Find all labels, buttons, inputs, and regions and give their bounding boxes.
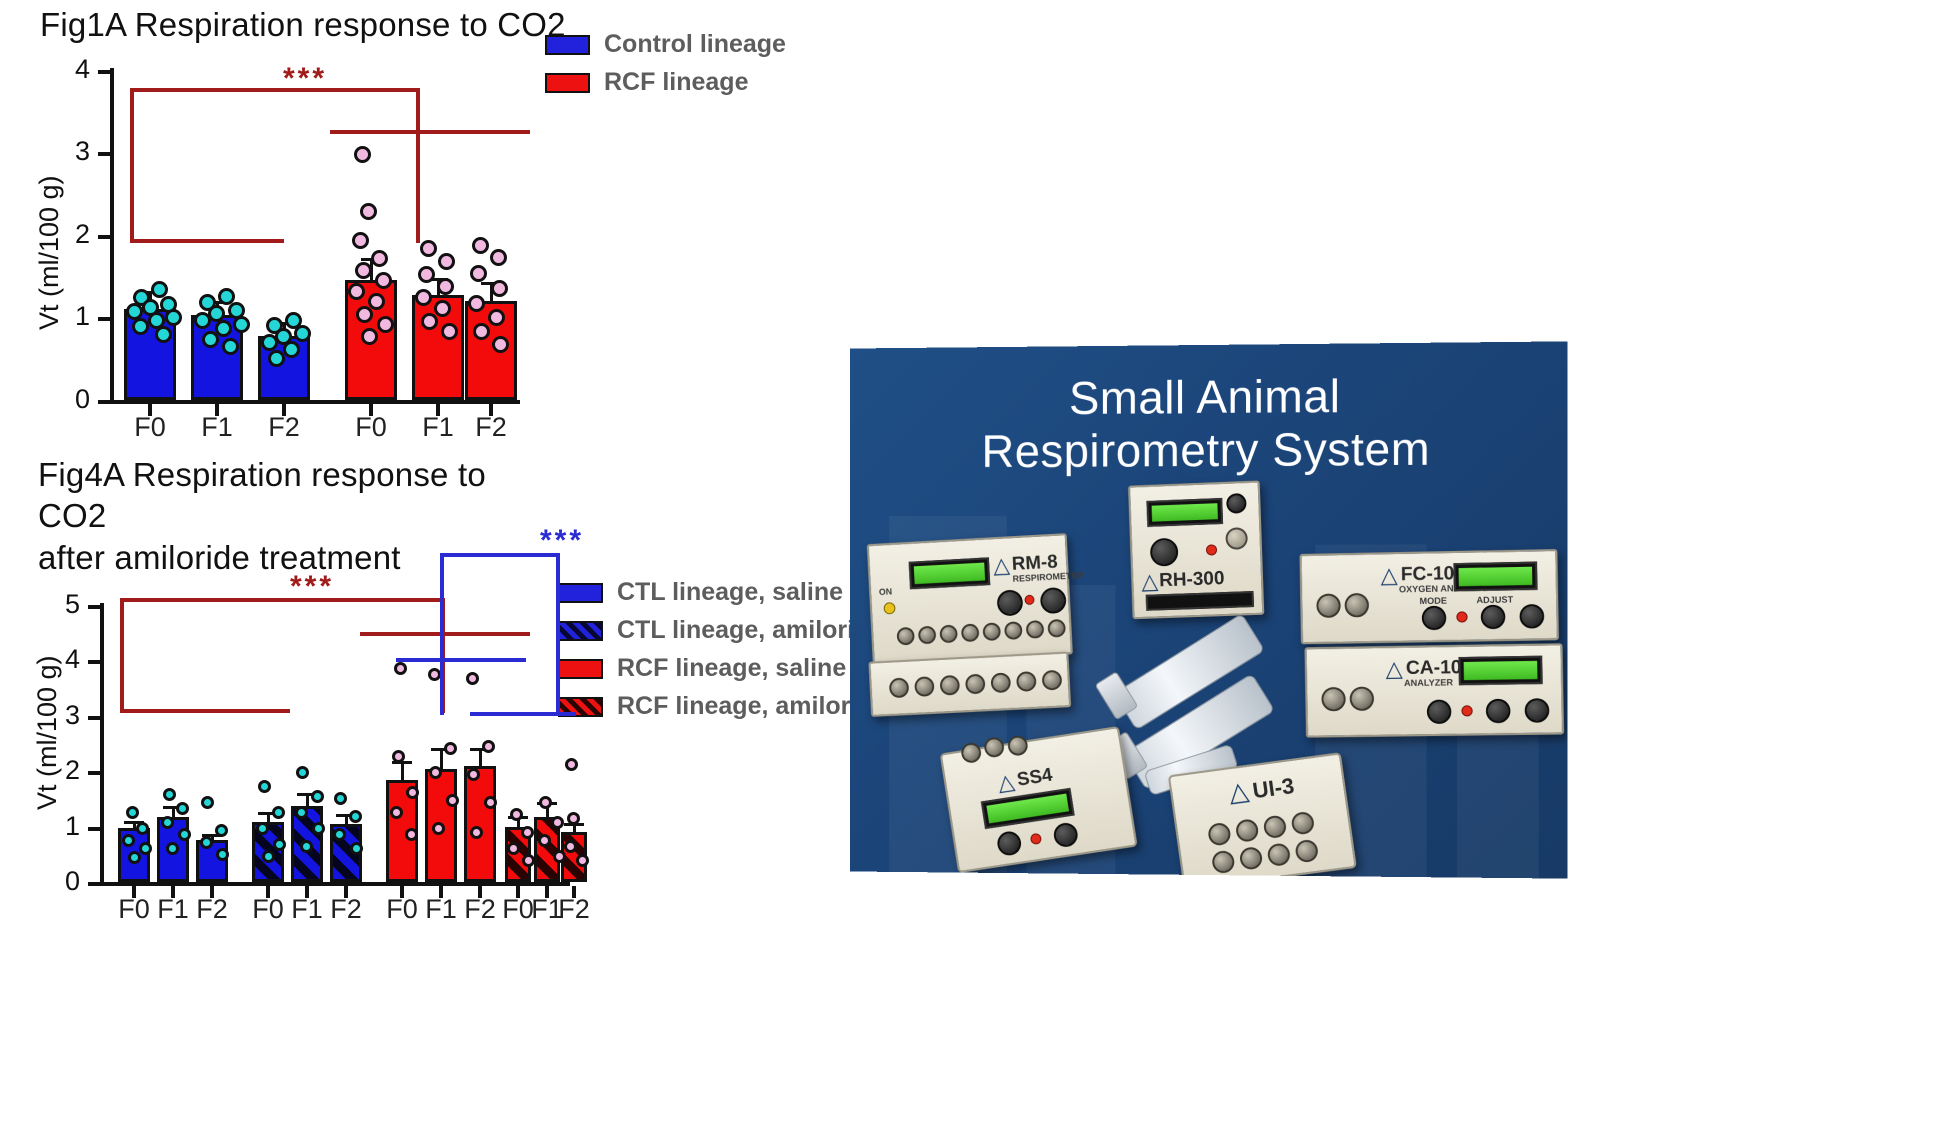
data-point [283, 341, 300, 358]
data-point [482, 740, 495, 753]
connector-port[interactable] [1321, 687, 1346, 711]
data-point [136, 822, 149, 835]
data-point [258, 780, 271, 793]
significance-bracket-foot [470, 712, 576, 716]
y-tick-label: 5 [44, 589, 80, 620]
data-point [470, 265, 487, 282]
data-point [300, 840, 313, 853]
figure-4-plot: Vt (ml/100 g) 0 1 2 3 4 5 [0, 450, 600, 1145]
bnc-port[interactable] [1016, 671, 1037, 692]
device-model-label: SS4 [1016, 765, 1054, 792]
product-title-line1: Small Animal [1069, 370, 1341, 424]
bnc-port[interactable] [1235, 818, 1260, 843]
data-point [538, 834, 551, 847]
data-point [312, 822, 325, 835]
legend-label: CTL lineage, amiloride [617, 616, 883, 645]
bnc-port[interactable] [982, 622, 1001, 641]
bnc-port[interactable] [1026, 620, 1045, 639]
lcd-display [1146, 498, 1223, 527]
brand-logo-icon: △ [996, 771, 1016, 795]
legend-label: RCF lineage [604, 68, 748, 97]
device-ca10[interactable]: △ CA-10 ANALYZER [1304, 643, 1564, 737]
legend-label: Control lineage [604, 30, 786, 59]
device-model-label: CA-10 [1406, 657, 1462, 680]
data-point [421, 313, 438, 330]
device-model-label: UI-3 [1251, 773, 1296, 804]
brand-logo-icon: △ [1141, 570, 1159, 593]
data-point [418, 266, 435, 283]
legend-item[interactable]: CTL lineage, amiloride [558, 616, 887, 645]
data-point [178, 828, 191, 841]
data-point [348, 283, 365, 300]
data-point [488, 309, 505, 326]
bnc-port[interactable] [1207, 822, 1232, 847]
legend-label: CTL lineage, saline [617, 578, 843, 607]
data-point [294, 325, 311, 342]
knob[interactable] [1225, 527, 1248, 550]
x-axis-line [110, 400, 520, 404]
bnc-port[interactable] [1239, 846, 1264, 871]
connector-port[interactable] [1316, 593, 1341, 618]
knob[interactable] [1519, 604, 1544, 629]
x-tick-label-f0: F0 [340, 412, 402, 443]
bnc-port[interactable] [1266, 842, 1291, 867]
y-tick [88, 882, 100, 886]
device-rh300[interactable]: △ RH-300 [1128, 480, 1264, 619]
data-point [576, 854, 589, 867]
data-point [233, 316, 250, 333]
y-tick-label: 3 [54, 136, 90, 167]
y-tick [88, 716, 100, 720]
data-point [420, 240, 437, 257]
significance-stars-blue: *** [540, 524, 584, 558]
data-point [163, 788, 176, 801]
data-point [128, 851, 141, 864]
y-axis-line [110, 68, 114, 404]
device-rm8-lower-rack[interactable] [868, 651, 1071, 716]
data-point [176, 802, 189, 815]
on-label: ON [879, 586, 893, 597]
x-tick-label-f1: F1 [186, 412, 248, 443]
data-point [553, 850, 566, 863]
y-tick-label: 3 [44, 700, 80, 731]
vent-slot [1146, 591, 1254, 611]
significance-bracket [130, 88, 420, 243]
product-title: Small Animal Respirometry System [850, 368, 1567, 479]
data-point [166, 842, 179, 855]
y-tick [88, 605, 100, 609]
data-point [355, 262, 372, 279]
data-point [406, 786, 419, 799]
data-point [368, 293, 385, 310]
data-point [470, 826, 483, 839]
significance-bracket-foot [396, 658, 526, 662]
data-point [295, 806, 308, 819]
knob[interactable] [1226, 493, 1247, 514]
data-point [521, 826, 534, 839]
x-tick-label-f2: F2 [181, 894, 243, 925]
y-tick-label: 4 [44, 644, 80, 675]
legend-label: RCF lineage, amiloride [617, 692, 887, 721]
data-point [567, 812, 580, 825]
y-tick [98, 152, 110, 156]
y-tick [88, 771, 100, 775]
knob[interactable] [996, 830, 1023, 857]
error-bar [401, 761, 404, 782]
data-point [484, 796, 497, 809]
significance-bracket-foot [130, 239, 284, 243]
data-point [132, 318, 149, 335]
data-point [296, 766, 309, 779]
data-point [446, 794, 459, 807]
data-point [268, 350, 285, 367]
data-point [311, 790, 324, 803]
y-tick [88, 827, 100, 831]
data-point [564, 840, 577, 853]
data-point [139, 842, 152, 855]
lcd-display [909, 557, 991, 589]
x-tick-label-f2: F2 [315, 894, 377, 925]
y-tick-label: 2 [44, 755, 80, 786]
legend-item[interactable]: CTL lineage, saline [558, 578, 887, 607]
data-point [349, 810, 362, 823]
y-tick [98, 400, 110, 404]
data-point [200, 836, 213, 849]
product-photo-panel: Small Animal Respirometry System △ RM-8 … [850, 341, 1567, 878]
bnc-port[interactable] [940, 675, 961, 696]
data-point [215, 824, 228, 837]
data-point [194, 312, 211, 329]
device-model-label: RH-300 [1159, 568, 1225, 592]
data-point [551, 816, 564, 829]
bnc-port[interactable] [896, 627, 914, 646]
data-point [390, 806, 403, 819]
figure-1-panel: Fig1A Respiration response to CO2 Contro… [0, 0, 840, 450]
data-point [441, 323, 458, 340]
data-point [491, 280, 508, 297]
data-point [415, 289, 432, 306]
significance-bracket-blue [440, 553, 560, 715]
bnc-port[interactable] [914, 676, 935, 697]
y-tick-label: 4 [54, 54, 90, 85]
data-point [507, 842, 520, 855]
error-bar [440, 748, 443, 770]
knob[interactable] [1052, 821, 1079, 848]
significance-stars-red: *** [290, 570, 334, 604]
data-point [202, 331, 219, 348]
data-point [539, 796, 552, 809]
data-point [273, 838, 286, 851]
bnc-port[interactable] [1211, 850, 1236, 875]
brand-logo-icon: △ [1380, 564, 1398, 586]
significance-bracket-foot [120, 709, 290, 713]
figure-1-legend: Control lineage RCF lineage [545, 30, 786, 106]
y-tick-label: 1 [44, 811, 80, 842]
control-label: MODE [1419, 596, 1447, 607]
legend-item[interactable]: RCF lineage, saline [558, 654, 887, 683]
status-led [1030, 833, 1042, 845]
power-led [883, 602, 895, 614]
bnc-port[interactable] [889, 678, 910, 699]
bnc-port[interactable] [939, 625, 958, 644]
data-point [155, 326, 172, 343]
status-led [1461, 705, 1472, 716]
data-point [272, 806, 285, 819]
data-point [375, 272, 392, 289]
device-rm8[interactable]: △ RM-8 RESPIROMETER ON [867, 533, 1073, 664]
data-point [262, 850, 275, 863]
data-point [371, 250, 388, 267]
y-tick-label: 1 [54, 301, 90, 332]
data-point [222, 338, 239, 355]
device-ui3[interactable]: △ UI-3 [1168, 752, 1357, 878]
bar-rcf-saline-f2[interactable] [464, 766, 496, 882]
knob[interactable] [1427, 700, 1452, 725]
legend-label: RCF lineage, saline [617, 654, 846, 683]
data-point [334, 792, 347, 805]
knob[interactable] [1422, 606, 1447, 631]
product-title-line2: Respirometry System [982, 422, 1431, 477]
significance-stars: *** [283, 62, 327, 96]
data-point [216, 848, 229, 861]
x-tick-label-f2: F2 [543, 894, 605, 925]
bnc-port[interactable] [1042, 670, 1063, 691]
bnc-port[interactable] [965, 674, 986, 695]
lcd-display [1453, 562, 1537, 592]
status-led [1024, 595, 1034, 605]
legend-item[interactable]: RCF lineage [545, 68, 786, 97]
brand-logo-icon: △ [993, 554, 1011, 577]
device-fc10[interactable]: △ FC-10 OXYGEN ANALYZER MODE ADJUST [1299, 549, 1558, 644]
data-point [377, 316, 394, 333]
significance-bracket-foot [330, 130, 530, 134]
data-point [256, 822, 269, 835]
control-label: ADJUST [1476, 594, 1513, 605]
knob[interactable] [1040, 587, 1067, 614]
knob[interactable] [1481, 605, 1506, 630]
bnc-port[interactable] [961, 623, 980, 642]
status-led [1456, 611, 1467, 622]
y-axis-label: Vt (ml/100 g) [32, 655, 63, 810]
data-point [492, 336, 509, 353]
data-point [432, 822, 445, 835]
data-point [468, 295, 485, 312]
knob[interactable] [1525, 698, 1550, 723]
data-point [333, 828, 346, 841]
bnc-port[interactable] [918, 626, 937, 645]
figure-4-legend: CTL lineage, saline CTL lineage, amilori… [558, 578, 887, 730]
data-point [434, 300, 451, 317]
connector-port[interactable] [1344, 593, 1369, 618]
figure-1-plot: Vt (ml/100 g) 0 1 2 3 4 [0, 0, 560, 450]
data-point [201, 796, 214, 809]
status-led [1206, 544, 1217, 555]
data-point [261, 334, 278, 351]
data-point [361, 328, 378, 345]
significance-bracket-red [120, 598, 445, 713]
data-point [392, 750, 405, 763]
x-tick-label-f2: F2 [460, 412, 522, 443]
y-tick [98, 317, 110, 321]
data-point [165, 309, 182, 326]
bnc-port[interactable] [1262, 814, 1287, 839]
figure-4-panel: Fig4A Respiration response to CO2 after … [0, 450, 870, 1145]
data-point [437, 278, 454, 295]
data-point [510, 808, 523, 821]
knob[interactable] [1150, 538, 1179, 567]
legend-item[interactable]: Control lineage [545, 30, 786, 59]
bnc-port[interactable] [1290, 811, 1315, 836]
x-tick-label-f0: F0 [119, 412, 181, 443]
data-point [473, 323, 490, 340]
data-point [122, 834, 135, 847]
lcd-display [1458, 656, 1542, 686]
data-point [161, 816, 174, 829]
legend-item[interactable]: RCF lineage, amiloride [558, 692, 887, 721]
knob[interactable] [1486, 699, 1511, 724]
data-point [429, 766, 442, 779]
data-point [405, 828, 418, 841]
data-point [350, 842, 363, 855]
y-tick [98, 235, 110, 239]
data-point [467, 768, 480, 781]
data-point [522, 854, 535, 867]
bnc-port[interactable] [990, 672, 1011, 693]
data-point [438, 253, 455, 270]
bnc-port[interactable] [1294, 839, 1319, 864]
data-point [472, 237, 489, 254]
y-tick-label: 0 [44, 866, 80, 897]
data-point [444, 742, 457, 755]
bnc-port[interactable] [1047, 619, 1066, 638]
data-point [565, 758, 578, 771]
data-point [356, 306, 373, 323]
data-point [490, 249, 507, 266]
brand-logo-icon: △ [1385, 658, 1403, 680]
y-tick [98, 70, 110, 74]
connector-port[interactable] [1350, 687, 1375, 711]
y-tick-label: 2 [54, 219, 90, 250]
knob[interactable] [997, 589, 1024, 616]
device-sub-label: ANALYZER [1404, 677, 1453, 688]
y-tick [88, 660, 100, 664]
bnc-port[interactable] [1004, 621, 1023, 640]
y-tick-label: 0 [54, 384, 90, 415]
data-point [126, 806, 139, 819]
x-tick-label-f2: F2 [253, 412, 315, 443]
y-axis-line [100, 603, 104, 886]
brand-logo-icon: △ [1227, 777, 1250, 805]
